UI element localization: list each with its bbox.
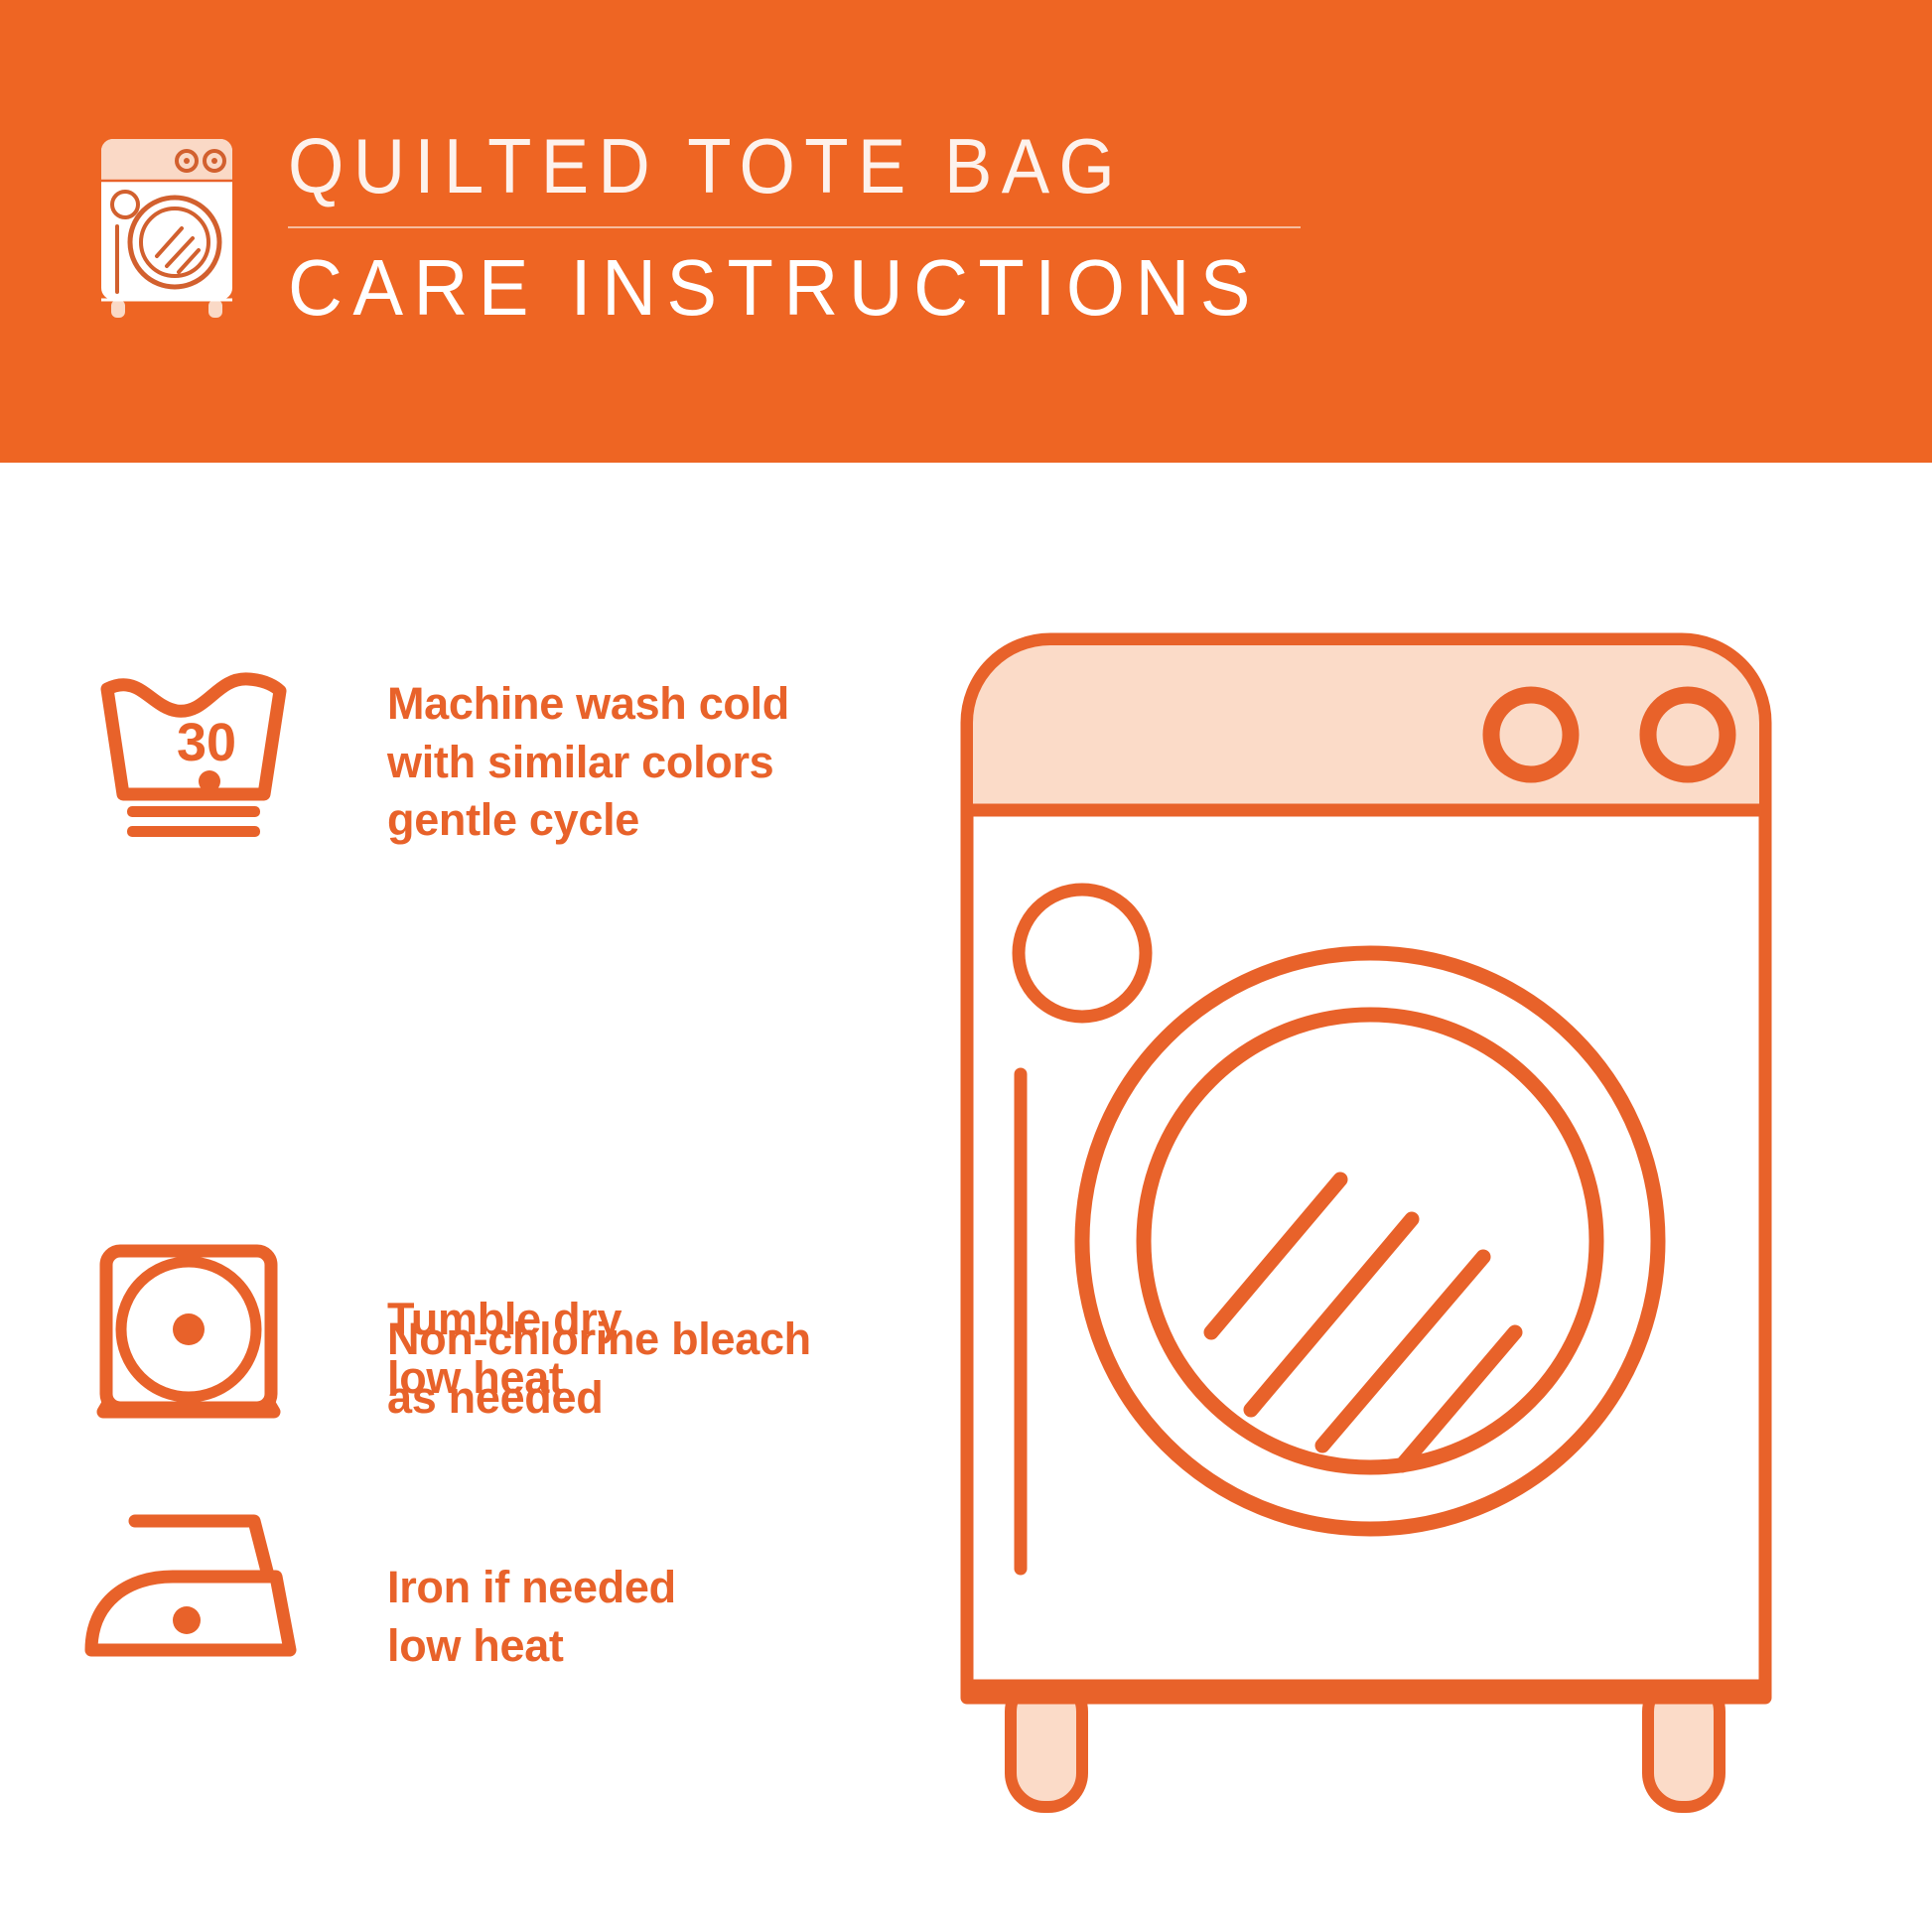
tumble-dry-icon (94, 1241, 283, 1420)
care-line-2: low heat (387, 1617, 844, 1676)
care-line-1: Tumble dry (387, 1291, 824, 1349)
care-label-tumble-dry: Tumble dry low heat (387, 1291, 824, 1407)
iron-icon (77, 1499, 306, 1673)
care-label-iron: Iron if needed low heat (387, 1559, 844, 1675)
svg-text:30: 30 (177, 713, 236, 772)
page-title: QUILTED TOTE BAG (288, 127, 1267, 205)
care-line-2: with similar colors (387, 734, 854, 792)
header-divider (288, 226, 1301, 228)
care-line-3: gentle cycle (387, 791, 854, 850)
header-washing-machine-icon (87, 131, 246, 320)
wash-tub-30-icon: 30 (89, 665, 298, 844)
page-subtitle: CARE INSTRUCTIONS (288, 248, 1288, 328)
care-line-1: Iron if needed (387, 1559, 844, 1617)
care-line-1: Machine wash cold (387, 675, 854, 734)
care-instructions-page: QUILTED TOTE BAG CARE INSTRUCTIONS 30 (0, 0, 1932, 1932)
care-label-machine-wash: Machine wash cold with similar colors ge… (387, 675, 854, 850)
header-banner: QUILTED TOTE BAG CARE INSTRUCTIONS (0, 0, 1932, 463)
care-line-2: low heat (387, 1349, 824, 1408)
header-text-block: QUILTED TOTE BAG CARE INSTRUCTIONS (288, 127, 1340, 328)
large-washing-machine-illustration (953, 625, 1876, 1817)
